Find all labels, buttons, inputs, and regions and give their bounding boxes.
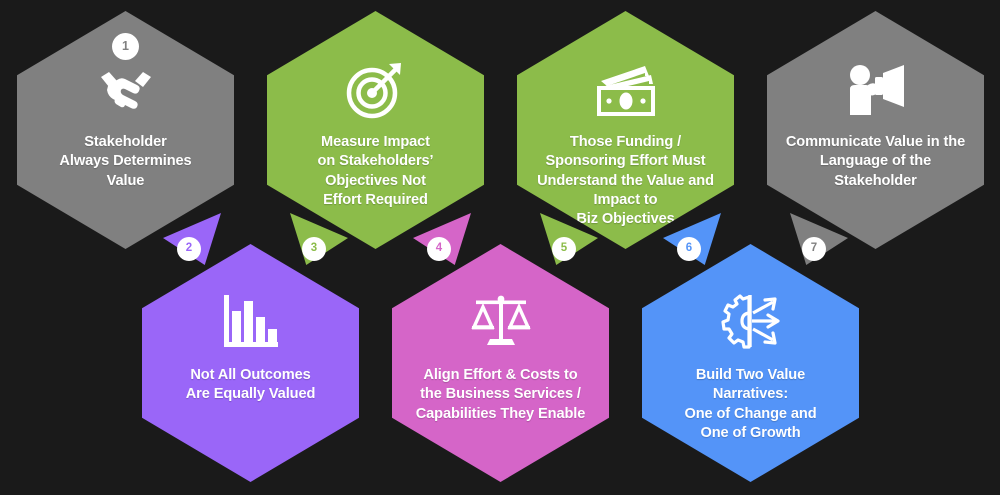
hexagon-label: Those Funding / Sponsoring Effort Must U… <box>528 133 724 229</box>
connector-badge-5: 5 <box>552 237 576 261</box>
hexagon-funding-sponsoring[interactable]: Those Funding / Sponsoring Effort Must U… <box>517 11 734 249</box>
scales-balance-icon <box>470 292 532 350</box>
cash-money-icon <box>595 61 657 119</box>
hexagon-not-all-outcomes[interactable]: Not All Outcomes Are Equally Valued <box>142 244 359 482</box>
connector-badge-4: 4 <box>427 237 451 261</box>
connector-badge-2: 2 <box>177 237 201 261</box>
hexagon-label: Not All Outcomes Are Equally Valued <box>153 366 349 405</box>
hexagon-build-two-narratives[interactable]: Build Two Value Narratives: One of Chang… <box>642 244 859 482</box>
infographic-canvas: Stakeholder Always Determines Value Meas… <box>0 0 1000 495</box>
bar-chart-icon <box>220 292 282 350</box>
hexagon-label: Measure Impact on Stakeholders’ Objectiv… <box>278 133 474 210</box>
target-arrow-icon <box>345 61 407 119</box>
hexagon-label: Communicate Value in the Language of the… <box>778 133 974 191</box>
connector-badge-7: 7 <box>802 237 826 261</box>
gear-arrows-icon <box>720 292 782 350</box>
hexagon-label: Stakeholder Always Determines Value <box>28 133 224 191</box>
connector-badge-3: 3 <box>302 237 326 261</box>
connector-badge-6: 6 <box>677 237 701 261</box>
hexagon-badge-1: 1 <box>112 33 139 60</box>
hexagon-align-effort-costs[interactable]: Align Effort & Costs to the Business Ser… <box>392 244 609 482</box>
hexagon-label: Align Effort & Costs to the Business Ser… <box>403 366 599 424</box>
hexagon-communicate-value[interactable]: Communicate Value in the Language of the… <box>767 11 984 249</box>
hexagon-label: Build Two Value Narratives: One of Chang… <box>653 366 849 443</box>
hexagon-measure-impact[interactable]: Measure Impact on Stakeholders’ Objectiv… <box>267 11 484 249</box>
handshake-icon <box>95 61 157 119</box>
megaphone-person-icon <box>845 61 907 119</box>
